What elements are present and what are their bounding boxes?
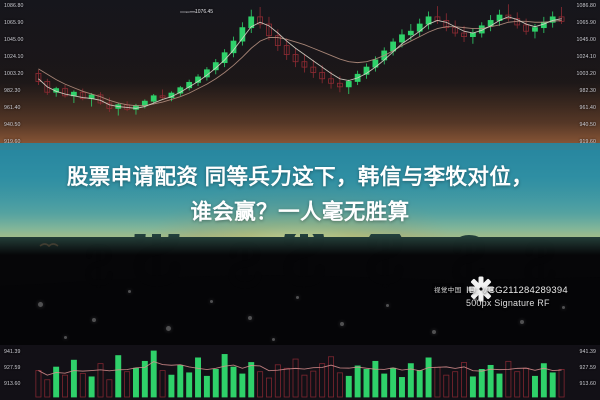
page-title: 股票申请配资 同等兵力这下，韩信与李牧对位， 谁会赢？一人毫无胜算 <box>0 160 600 230</box>
axis-label-left: 1065.90 <box>4 20 23 26</box>
axis-label-left: 1003.20 <box>4 71 23 77</box>
bokeh-dot <box>272 338 275 341</box>
price-chart-plot <box>0 0 600 150</box>
axis-label-left: 982.30 <box>4 88 20 94</box>
bokeh-dot <box>248 316 252 320</box>
bokeh-dot <box>64 336 67 339</box>
volume-axis-label-right: 941.39 <box>580 349 596 355</box>
bokeh-dot <box>520 320 524 324</box>
axis-label-right: 961.40 <box>580 105 596 111</box>
volume-chart-panel: 941.39 927.59 913.60 941.39 927.59 913.6… <box>0 345 600 400</box>
headline-line-2: 谁会赢？一人毫无胜算 <box>0 195 600 230</box>
bokeh-dot <box>296 296 299 299</box>
volume-axis-label-left: 927.59 <box>4 365 20 371</box>
visual-china-logo-text: 视觉中国 <box>432 283 464 295</box>
axis-label-left: 940.50 <box>4 122 20 128</box>
axis-label-left: 961.40 <box>4 105 20 111</box>
bokeh-dot <box>340 322 344 326</box>
volume-axis-label-right: 913.60 <box>580 381 596 387</box>
price-chart-panel: ←—1076.45 1086.80 1065.90 1045.00 1024.1… <box>0 0 600 150</box>
watermark-license: 500px Signature RF <box>466 297 568 309</box>
axis-label-right: 982.30 <box>580 88 596 94</box>
axis-label-right: 940.50 <box>580 122 596 128</box>
axis-label-left: 1024.10 <box>4 54 23 60</box>
bokeh-dot <box>38 302 43 307</box>
price-annotation: ←—1076.45 <box>185 9 213 15</box>
watermark-id-block: ID: VCG211284289394 500px Signature RF <box>466 285 568 309</box>
axis-label-right: 1003.20 <box>577 71 596 77</box>
bokeh-dot <box>210 300 213 303</box>
volume-chart-plot <box>0 345 600 400</box>
axis-label-right: 1065.90 <box>577 20 596 26</box>
headline-line-1: 股票申请配资 同等兵力这下，韩信与李牧对位， <box>67 165 533 189</box>
volume-axis-label-left: 913.60 <box>4 381 20 387</box>
axis-label-right: 1045.00 <box>577 37 596 43</box>
screenshot-canvas: ←—1076.45 1086.80 1065.90 1045.00 1024.1… <box>0 0 600 400</box>
bokeh-dot <box>386 304 389 307</box>
axis-label-left: 1086.80 <box>4 3 23 9</box>
volume-axis-label-right: 927.59 <box>580 365 596 371</box>
bokeh-dot <box>432 330 436 334</box>
axis-label-right: 1086.80 <box>577 3 596 9</box>
volume-axis-label-left: 941.39 <box>4 349 20 355</box>
bokeh-dot <box>128 290 131 293</box>
axis-label-left: 1045.00 <box>4 37 23 43</box>
watermark-image-id: ID: VCG211284289394 <box>466 285 568 296</box>
bokeh-dot <box>92 318 96 322</box>
axis-label-right: 1024.10 <box>577 54 596 60</box>
bokeh-dot <box>166 326 171 331</box>
